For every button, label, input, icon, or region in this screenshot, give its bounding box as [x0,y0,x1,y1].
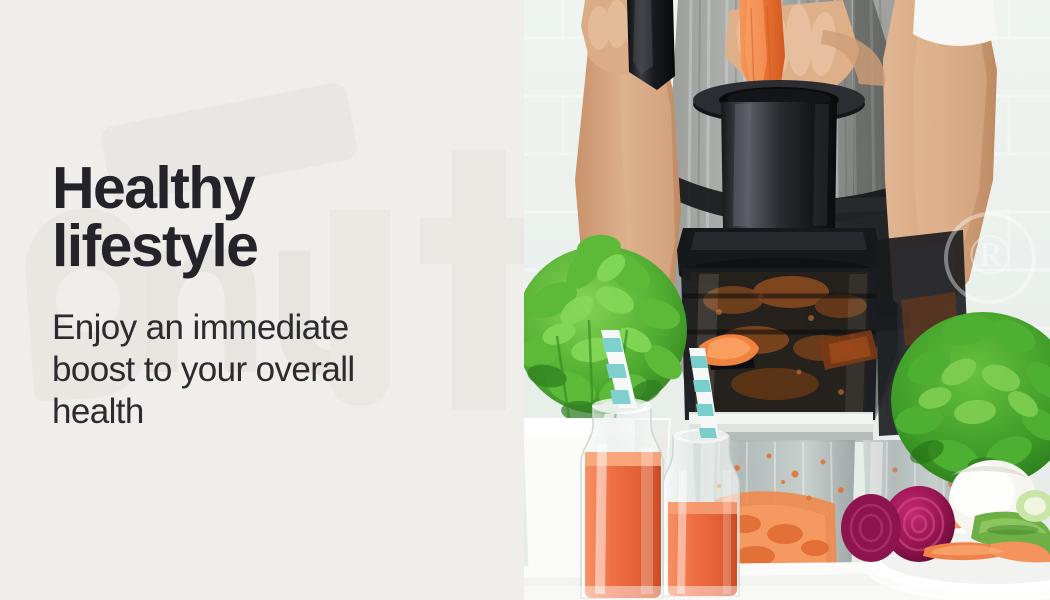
page-subtitle: Enjoy an immediate boost to your overall… [52,276,512,433]
sleeve [913,0,997,46]
text-panel: nu Healthy lifestyle Enjoy an immediate … [0,0,524,600]
copy-block: Healthy lifestyle Enjoy an immediate boo… [52,160,512,433]
juice-bottle-2 [663,429,739,596]
page-title: Healthy lifestyle [52,160,512,276]
juice-bottle-1 [581,398,663,598]
promo-banner: nu Healthy lifestyle Enjoy an immediate … [0,0,1050,600]
juicing-scene-illustration [523,0,1050,600]
hero-photo: ® [523,0,1050,600]
